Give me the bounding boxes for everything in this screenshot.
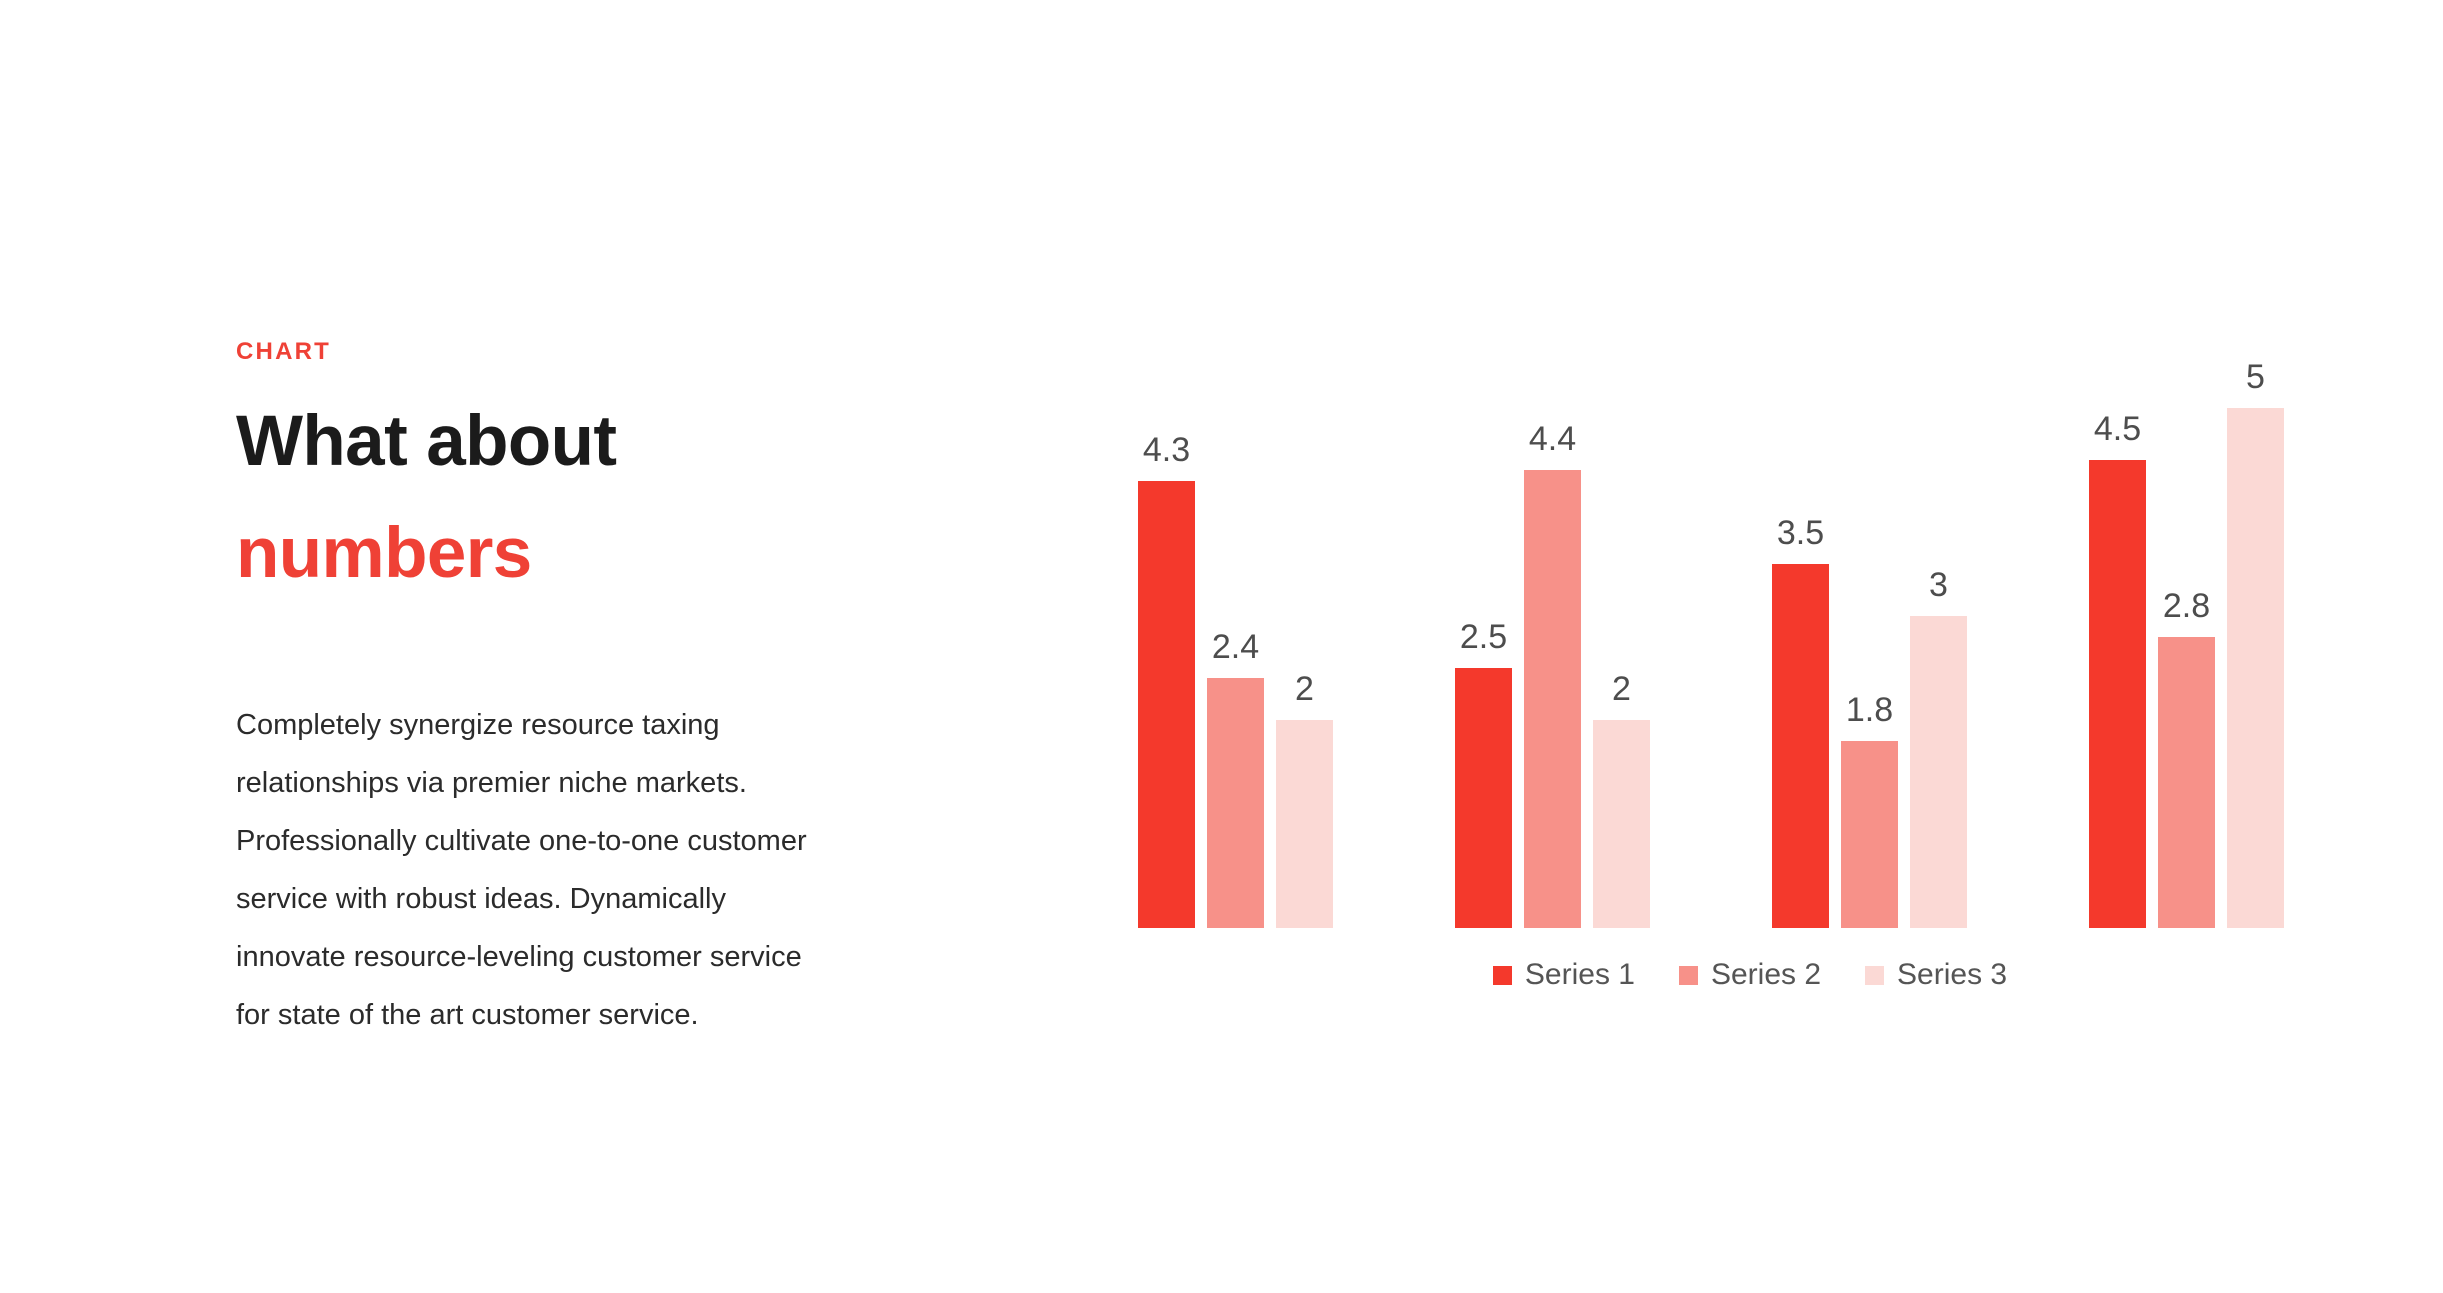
bar-series-3[interactable] (1276, 720, 1333, 928)
bar-value-label: 2 (1612, 672, 1631, 706)
eyebrow-label: CHART (236, 340, 836, 364)
bar-group: 4.32.42 (1138, 300, 1333, 928)
bar-group: 3.51.83 (1772, 300, 1967, 928)
bar-series-2[interactable] (1524, 470, 1581, 928)
bar-series-1[interactable] (1138, 481, 1195, 928)
bar-value-label: 3.5 (1777, 516, 1824, 550)
bar-item[interactable]: 2.4 (1207, 300, 1264, 928)
legend-swatch-icon (1679, 966, 1698, 985)
bar-series-1[interactable] (1772, 564, 1829, 928)
bar-series-1[interactable] (1455, 668, 1512, 928)
bar-item[interactable]: 5 (2227, 300, 2284, 928)
bar-value-label: 2.5 (1460, 620, 1507, 654)
body-paragraph: Completely synergize resource taxing rel… (236, 696, 816, 1044)
page-title: What about numbers (236, 386, 836, 610)
bar-series-3[interactable] (1910, 616, 1967, 928)
chart-legend: Series 1Series 2Series 3 (1100, 960, 2400, 990)
bar-chart: 4.32.422.54.423.51.834.52.85 Series 1Ser… (1100, 300, 2400, 1060)
slide-canvas: CHART What about numbers Completely syne… (0, 0, 2443, 1293)
bar-item[interactable]: 1.8 (1841, 300, 1898, 928)
bar-series-2[interactable] (1841, 741, 1898, 928)
bar-item[interactable]: 4.5 (2089, 300, 2146, 928)
bar-item[interactable]: 3 (1910, 300, 1967, 928)
bar-series-3[interactable] (2227, 408, 2284, 928)
legend-item-series-3[interactable]: Series 3 (1865, 960, 2007, 990)
bar-value-label: 4.5 (2094, 412, 2141, 446)
headline-line-2: numbers (236, 498, 836, 610)
text-column: CHART What about numbers Completely syne… (236, 340, 836, 1044)
bar-value-label: 5 (2246, 360, 2265, 394)
bar-value-label: 2 (1295, 672, 1314, 706)
headline-line-1: What about (236, 386, 836, 498)
bar-series-1[interactable] (2089, 460, 2146, 928)
bar-item[interactable]: 3.5 (1772, 300, 1829, 928)
bar-item[interactable]: 4.4 (1524, 300, 1581, 928)
legend-swatch-icon (1865, 966, 1884, 985)
legend-label: Series 1 (1525, 960, 1635, 990)
bar-value-label: 2.4 (1212, 630, 1259, 664)
bar-group: 2.54.42 (1455, 300, 1650, 928)
bar-group: 4.52.85 (2089, 300, 2284, 928)
bar-item[interactable]: 2.8 (2158, 300, 2215, 928)
legend-swatch-icon (1493, 966, 1512, 985)
bar-value-label: 2.8 (2163, 589, 2210, 623)
legend-label: Series 2 (1711, 960, 1821, 990)
bar-value-label: 1.8 (1846, 693, 1893, 727)
bar-series-2[interactable] (1207, 678, 1264, 928)
bar-value-label: 3 (1929, 568, 1948, 602)
chart-plot-area: 4.32.422.54.423.51.834.52.85 (1100, 300, 2400, 928)
legend-item-series-1[interactable]: Series 1 (1493, 960, 1635, 990)
bar-value-label: 4.4 (1529, 422, 1576, 456)
bar-item[interactable]: 2 (1276, 300, 1333, 928)
bar-series-3[interactable] (1593, 720, 1650, 928)
bar-item[interactable]: 2 (1593, 300, 1650, 928)
bar-series-2[interactable] (2158, 637, 2215, 928)
bar-value-label: 4.3 (1143, 433, 1190, 467)
bar-item[interactable]: 4.3 (1138, 300, 1195, 928)
legend-item-series-2[interactable]: Series 2 (1679, 960, 1821, 990)
legend-label: Series 3 (1897, 960, 2007, 990)
bar-item[interactable]: 2.5 (1455, 300, 1512, 928)
